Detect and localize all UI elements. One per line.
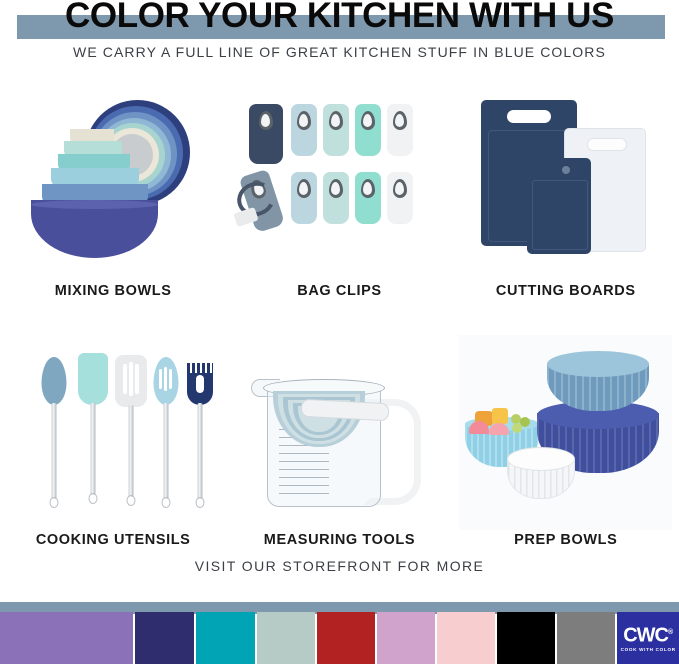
mixing-bowls-image xyxy=(7,86,220,281)
product-card-measuring-tools[interactable]: MEASURING TOOLS xyxy=(226,335,452,548)
spatula-head xyxy=(78,353,108,405)
product-label: PREP BOWLS xyxy=(514,532,617,548)
spoon-slot xyxy=(169,369,172,389)
color-swatch-strip: CWC® COOK WITH COLOR xyxy=(0,612,679,664)
product-label: MIXING BOWLS xyxy=(55,283,172,299)
clip-grip xyxy=(361,179,375,198)
board-hang-hole xyxy=(562,166,570,174)
utensil-ring xyxy=(195,497,204,508)
product-card-prep-bowls[interactable]: PREP BOWLS xyxy=(453,335,679,548)
board-navy-small xyxy=(527,158,591,254)
measuring-tools-image xyxy=(233,335,446,530)
clip-seafoam-2 xyxy=(323,172,349,224)
utensil-pasta-server xyxy=(187,363,213,509)
mixing-bowls-illustration xyxy=(7,86,220,281)
swatch-black xyxy=(497,612,555,664)
storefront-cta[interactable]: VISIT OUR STOREFRONT FOR MORE xyxy=(0,558,679,574)
swatch-teal xyxy=(196,612,254,664)
swatch-purple xyxy=(0,612,133,664)
cwc-logo-letters: CWC xyxy=(623,624,668,646)
clip-grip xyxy=(361,111,375,130)
fruit-melon xyxy=(492,408,508,424)
utensil-ring xyxy=(161,497,170,508)
measuring-jug xyxy=(245,357,435,507)
swatch-blush xyxy=(437,612,495,664)
utensil-spoon xyxy=(41,357,67,509)
spoon-slot xyxy=(164,367,167,391)
product-card-bag-clips[interactable]: BAG CLIPS xyxy=(226,86,452,299)
cwc-logo-text: CWC® xyxy=(623,623,673,646)
utensil-slotted-spoon xyxy=(153,357,179,509)
board-groove xyxy=(532,180,588,250)
cwc-logo[interactable]: CWC® COOK WITH COLOR xyxy=(617,612,679,664)
utensil-handle xyxy=(128,405,133,497)
utensil-handle xyxy=(197,403,202,499)
clip-grip xyxy=(329,111,343,130)
board-handle-hole xyxy=(587,138,627,151)
swatch-navy xyxy=(135,612,195,664)
turner-slot xyxy=(129,362,133,396)
registered-mark-icon: ® xyxy=(668,629,673,636)
clip-navy-large xyxy=(249,104,283,164)
product-label: CUTTING BOARDS xyxy=(496,283,636,299)
header: COLOR YOUR KITCHEN WITH US WE CARRY A FU… xyxy=(0,0,679,78)
clip-grip xyxy=(393,111,407,130)
turner-slot xyxy=(135,364,139,394)
cwc-logo-tagline: COOK WITH COLOR xyxy=(621,646,676,653)
swatch-sage xyxy=(257,612,315,664)
clip-grip xyxy=(297,179,311,198)
product-grid: MIXING BOWLS xyxy=(0,86,679,548)
utensil-spatula xyxy=(78,353,108,509)
cutting-boards-image xyxy=(459,86,672,281)
utensil-slotted-turner xyxy=(115,355,147,509)
product-card-cooking-utensils[interactable]: COOKING UTENSILS xyxy=(0,335,226,548)
clip-mint-1 xyxy=(355,104,381,156)
prep-bowl-steelblue xyxy=(547,349,649,411)
clip-white-2 xyxy=(387,172,413,224)
utensil-handle xyxy=(163,403,168,499)
bowl-lid xyxy=(507,447,575,471)
utensil-handle xyxy=(51,403,56,499)
cooking-utensils-image xyxy=(7,335,220,530)
pasta-server-teeth xyxy=(187,363,213,373)
clip-lightblue-1 xyxy=(291,104,317,156)
clip-lightblue-2 xyxy=(291,172,317,224)
clip-grip xyxy=(259,111,273,130)
bowl-lid xyxy=(547,351,649,377)
swatch-orchid xyxy=(377,612,435,664)
utensil-handle xyxy=(90,403,95,495)
swatch-gray xyxy=(557,612,615,664)
product-label: BAG CLIPS xyxy=(297,283,381,299)
board-handle-hole xyxy=(507,110,551,123)
product-row: COOKING UTENSILS xyxy=(0,335,679,548)
product-row: MIXING BOWLS xyxy=(0,86,679,299)
clip-grip xyxy=(297,111,311,130)
bag-clips-image xyxy=(233,86,446,281)
clip-grip xyxy=(393,179,407,198)
clip-white-1 xyxy=(387,104,413,156)
bowl-rim-highlight xyxy=(31,200,158,209)
page-title: COLOR YOUR KITCHEN WITH US xyxy=(0,0,679,36)
turner-slot xyxy=(123,364,127,394)
clip-grip xyxy=(329,179,343,198)
product-card-mixing-bowls[interactable]: MIXING BOWLS xyxy=(0,86,226,299)
page-subtitle: WE CARRY A FULL LINE OF GREAT KITCHEN ST… xyxy=(0,44,679,60)
spoon-head xyxy=(41,357,66,405)
product-card-cutting-boards[interactable]: CUTTING BOARDS xyxy=(453,86,679,299)
product-label: MEASURING TOOLS xyxy=(264,532,415,548)
utensil-ring xyxy=(49,497,58,508)
swatch-red xyxy=(317,612,375,664)
utensil-ring xyxy=(88,493,97,504)
utensil-ring xyxy=(126,495,135,506)
clip-mint-2 xyxy=(355,172,381,224)
clip-seafoam-1 xyxy=(323,104,349,156)
prep-bowl-white xyxy=(507,447,573,497)
flyer-page: COLOR YOUR KITCHEN WITH US WE CARRY A FU… xyxy=(0,0,679,664)
product-label: COOKING UTENSILS xyxy=(36,532,191,548)
pasta-server-center-hole xyxy=(196,375,204,393)
prep-bowls-image xyxy=(459,335,672,530)
spoon-slot xyxy=(159,369,162,389)
